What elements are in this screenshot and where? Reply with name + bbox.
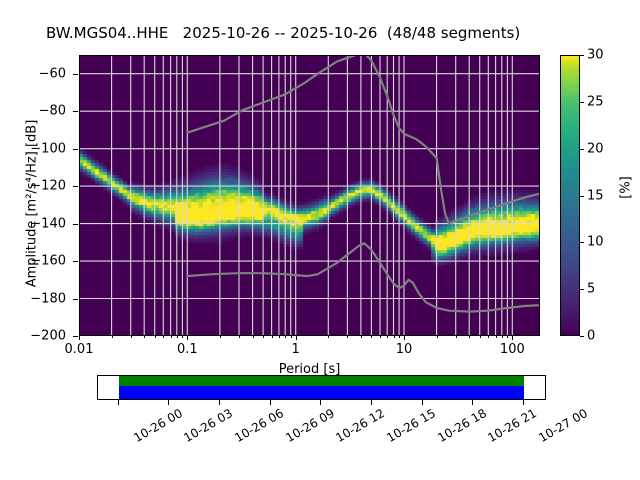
x-minor-tick bbox=[220, 336, 221, 338]
data-coverage-timeline[interactable] bbox=[97, 375, 546, 400]
x-minor-tick bbox=[399, 336, 400, 338]
x-minor-tick bbox=[163, 336, 164, 338]
timeline-tick-label: 10-26 03 bbox=[182, 406, 236, 445]
y-axis-label: Amplitude [m²/s⁴/Hz] [dB] bbox=[25, 54, 40, 354]
y-tick-mark bbox=[73, 149, 78, 150]
colorbar-tick-mark bbox=[580, 196, 584, 197]
coverage-band-blue bbox=[119, 386, 524, 399]
coverage-band-green bbox=[119, 376, 524, 386]
axes-frame bbox=[79, 55, 540, 336]
y-tick-mark bbox=[73, 74, 78, 75]
colorbar-tick-mark bbox=[580, 289, 584, 290]
x-minor-tick bbox=[480, 336, 481, 338]
timeline-tick-label: 10-26 15 bbox=[384, 406, 438, 445]
x-minor-tick bbox=[394, 336, 395, 338]
x-minor-tick bbox=[144, 336, 145, 338]
y-tick-mark bbox=[73, 336, 78, 337]
x-minor-tick bbox=[387, 336, 388, 338]
x-tick-label: 0.01 bbox=[65, 342, 94, 357]
x-minor-tick bbox=[112, 336, 113, 338]
x-minor-tick bbox=[131, 336, 132, 338]
colorbar-tick-mark bbox=[580, 336, 584, 337]
colorbar-gradient bbox=[560, 55, 580, 336]
x-minor-tick bbox=[361, 336, 362, 338]
x-minor-tick bbox=[171, 336, 172, 338]
timeline-tick-label: 10-26 12 bbox=[334, 406, 388, 445]
y-tick-mark bbox=[73, 111, 78, 112]
x-axis-tick-labels: 0.010.1110100 bbox=[79, 340, 540, 362]
x-minor-tick bbox=[285, 336, 286, 338]
x-minor-tick bbox=[496, 336, 497, 338]
colorbar-tick-mark bbox=[580, 55, 584, 56]
colorbar-label: [%] bbox=[619, 158, 634, 218]
x-minor-tick bbox=[279, 336, 280, 338]
colorbar-tick-mark bbox=[580, 149, 584, 150]
colorbar-tick-label: 5 bbox=[587, 282, 595, 297]
x-minor-tick bbox=[371, 336, 372, 338]
colorbar-tick-mark bbox=[580, 102, 584, 103]
timeline-tick-label: 10-26 09 bbox=[283, 406, 337, 445]
x-minor-tick bbox=[177, 336, 178, 338]
timeline-tick-label: 10-26 18 bbox=[435, 406, 489, 445]
colorbar-tick-label: 25 bbox=[587, 94, 604, 109]
x-minor-tick bbox=[328, 336, 329, 338]
timeline-tick-label: 10-26 21 bbox=[486, 406, 540, 445]
timeline-tick-label: 10-26 06 bbox=[232, 406, 286, 445]
timeline-tick-label: 10-26 00 bbox=[131, 406, 185, 445]
x-minor-tick bbox=[239, 336, 240, 338]
x-minor-tick bbox=[380, 336, 381, 338]
colorbar-tick-label: 20 bbox=[587, 141, 604, 156]
colorbar-tick-label: 0 bbox=[587, 329, 595, 344]
timeline-tick-label: 10-27 00 bbox=[536, 406, 590, 445]
colorbar-tick-label: 15 bbox=[587, 188, 604, 203]
y-tick-mark bbox=[73, 186, 78, 187]
colorbar-ticks: 051015202530 bbox=[580, 55, 620, 336]
x-minor-tick bbox=[253, 336, 254, 338]
x-tick-label: 100 bbox=[500, 342, 525, 357]
ppsd-figure: BW.MGS04..HHE 2025-10-26 -- 2025-10-26 (… bbox=[0, 0, 640, 480]
x-minor-tick bbox=[291, 336, 292, 338]
x-minor-tick bbox=[347, 336, 348, 338]
y-tick-mark bbox=[73, 261, 78, 262]
x-minor-tick bbox=[182, 336, 183, 338]
colorbar-tick-mark bbox=[580, 242, 584, 243]
y-tick-mark bbox=[73, 299, 78, 300]
x-minor-tick bbox=[155, 336, 156, 338]
colorbar-tick-label: 10 bbox=[587, 235, 604, 250]
x-minor-tick bbox=[507, 336, 508, 338]
plot-title: BW.MGS04..HHE 2025-10-26 -- 2025-10-26 (… bbox=[46, 24, 520, 42]
x-minor-tick bbox=[272, 336, 273, 338]
colorbar-tick-label: 30 bbox=[587, 48, 604, 63]
x-minor-tick bbox=[469, 336, 470, 338]
timeline-tick-labels: 10-26 0010-26 0310-26 0610-26 0910-26 12… bbox=[0, 404, 640, 480]
x-tick-label: 0.1 bbox=[177, 342, 198, 357]
y-axis-tick-marks bbox=[0, 55, 79, 336]
ppsd-axes bbox=[79, 55, 540, 336]
x-tick-label: 1 bbox=[292, 342, 300, 357]
x-minor-tick bbox=[488, 336, 489, 338]
x-minor-tick bbox=[437, 336, 438, 338]
x-tick-label: 10 bbox=[396, 342, 413, 357]
x-minor-tick bbox=[263, 336, 264, 338]
y-tick-mark bbox=[73, 224, 78, 225]
x-minor-tick bbox=[456, 336, 457, 338]
x-minor-tick bbox=[502, 336, 503, 338]
